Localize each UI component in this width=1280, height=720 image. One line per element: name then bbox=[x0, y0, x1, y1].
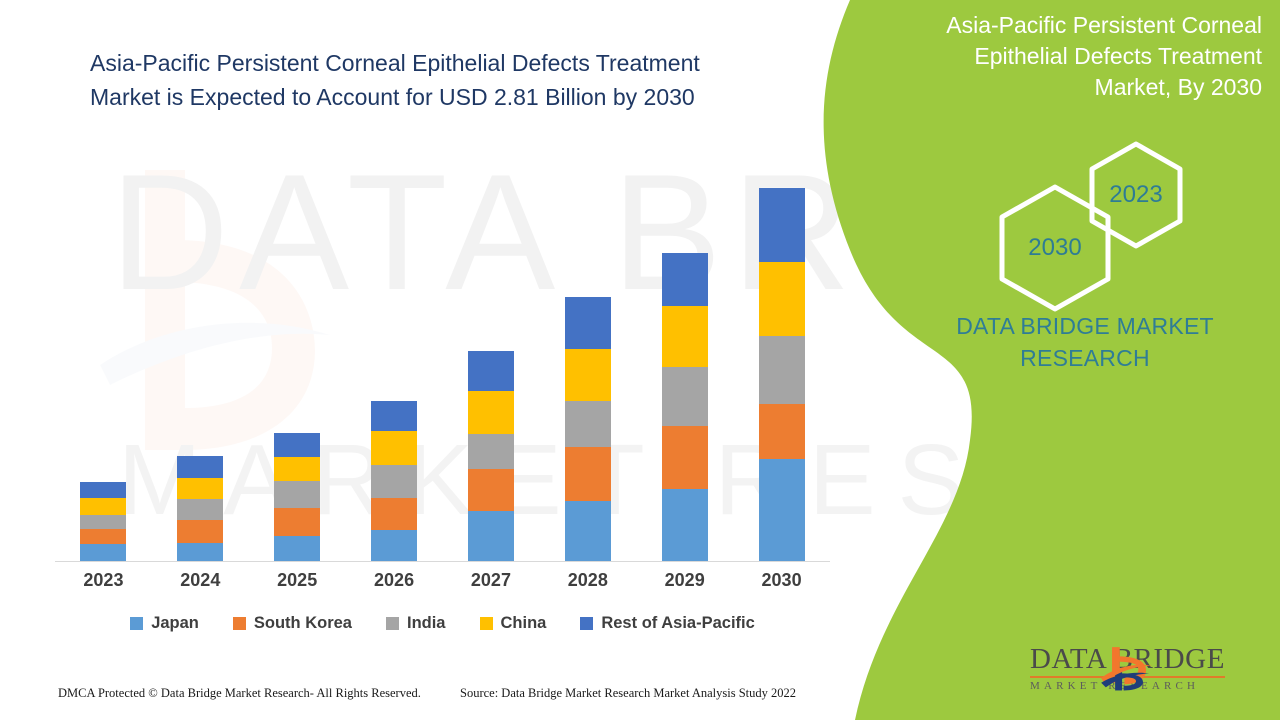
bar-segment bbox=[80, 515, 126, 529]
hexagon-2023-label: 2023 bbox=[1109, 181, 1162, 209]
legend-item[interactable]: Japan bbox=[130, 614, 199, 633]
bar-segment bbox=[80, 498, 126, 515]
bar-column bbox=[249, 150, 346, 561]
green-side-panel: Asia-Pacific Persistent Corneal Epitheli… bbox=[810, 0, 1280, 720]
stacked-bar bbox=[177, 456, 223, 561]
legend-swatch-icon bbox=[233, 617, 246, 630]
hexagon-2023: 2023 bbox=[1087, 140, 1185, 250]
footer: DMCA Protected © Data Bridge Market Rese… bbox=[0, 686, 845, 706]
x-axis-label: 2028 bbox=[539, 570, 636, 591]
bar-segment bbox=[371, 498, 417, 530]
chart-plot-area bbox=[55, 150, 830, 561]
page-title: Asia-Pacific Persistent Corneal Epitheli… bbox=[90, 46, 770, 114]
brand-name: DATA BRIDGE MARKET RESEARCH bbox=[920, 310, 1250, 374]
x-axis-line bbox=[55, 561, 830, 562]
bar-segment bbox=[468, 434, 514, 469]
bar-segment bbox=[274, 508, 320, 536]
bar-segment bbox=[565, 447, 611, 501]
bar-segment bbox=[371, 431, 417, 465]
bar-segment bbox=[177, 478, 223, 499]
bar-segment bbox=[371, 465, 417, 498]
hexagon-2030-label: 2030 bbox=[1028, 234, 1081, 262]
bar-segment bbox=[274, 536, 320, 561]
bar-column bbox=[443, 150, 540, 561]
x-axis-label: 2027 bbox=[443, 570, 540, 591]
bar-column bbox=[346, 150, 443, 561]
stacked-bar bbox=[80, 482, 126, 561]
bar-column bbox=[152, 150, 249, 561]
bar-column bbox=[636, 150, 733, 561]
bar-segment bbox=[759, 336, 805, 404]
bar-segment bbox=[468, 511, 514, 561]
legend-label: India bbox=[407, 614, 446, 633]
stacked-bar bbox=[468, 351, 514, 561]
x-axis-label: 2024 bbox=[152, 570, 249, 591]
x-axis-label: 2025 bbox=[249, 570, 346, 591]
bar-segment bbox=[662, 426, 708, 489]
bar-segment bbox=[565, 401, 611, 447]
bar-segment bbox=[662, 489, 708, 561]
bar-segment bbox=[177, 520, 223, 543]
footer-copyright: DMCA Protected © Data Bridge Market Rese… bbox=[58, 686, 421, 701]
bar-column bbox=[55, 150, 152, 561]
x-axis-tick-labels: 20232024202520262027202820292030 bbox=[55, 570, 830, 591]
bar-segment bbox=[565, 349, 611, 401]
bar-segment bbox=[274, 457, 320, 481]
bar-segment bbox=[468, 469, 514, 511]
bar-segment bbox=[468, 351, 514, 391]
bar-segment bbox=[565, 297, 611, 349]
data-bridge-logo: DATA BRIDGE MARKET RESEARCH bbox=[1030, 644, 1225, 692]
legend-swatch-icon bbox=[130, 617, 143, 630]
hexagon-group: 2030 2023 bbox=[955, 140, 1185, 290]
legend-label: China bbox=[501, 614, 547, 633]
stacked-bar bbox=[274, 433, 320, 561]
bar-segment bbox=[468, 391, 514, 434]
stacked-bar-chart bbox=[55, 150, 830, 562]
legend-swatch-icon bbox=[480, 617, 493, 630]
legend-item[interactable]: India bbox=[386, 614, 446, 633]
stacked-bar bbox=[662, 253, 708, 561]
bar-segment bbox=[759, 262, 805, 336]
bar-segment bbox=[662, 253, 708, 306]
footer-source: Source: Data Bridge Market Research Mark… bbox=[460, 686, 796, 701]
stacked-bar bbox=[759, 188, 805, 561]
legend-item[interactable]: China bbox=[480, 614, 547, 633]
panel-title: Asia-Pacific Persistent Corneal Epitheli… bbox=[902, 10, 1262, 103]
legend-item[interactable]: Rest of Asia-Pacific bbox=[580, 614, 754, 633]
bar-segment bbox=[759, 188, 805, 262]
bar-segment bbox=[371, 530, 417, 561]
bar-segment bbox=[759, 459, 805, 561]
legend-label: Japan bbox=[151, 614, 199, 633]
bar-segment bbox=[662, 306, 708, 367]
legend-label: Rest of Asia-Pacific bbox=[601, 614, 754, 633]
bar-segment bbox=[80, 529, 126, 544]
bar-segment bbox=[177, 543, 223, 561]
bar-segment bbox=[80, 544, 126, 561]
bar-segment bbox=[371, 401, 417, 431]
stacked-bar bbox=[371, 401, 417, 561]
x-axis-label: 2029 bbox=[636, 570, 733, 591]
legend-label: South Korea bbox=[254, 614, 352, 633]
bar-segment bbox=[274, 433, 320, 457]
legend-item[interactable]: South Korea bbox=[233, 614, 352, 633]
x-axis-label: 2026 bbox=[346, 570, 443, 591]
bar-segment bbox=[759, 404, 805, 459]
bar-segment bbox=[177, 499, 223, 520]
bar-segment bbox=[662, 367, 708, 426]
bar-segment bbox=[565, 501, 611, 561]
x-axis-label: 2023 bbox=[55, 570, 152, 591]
legend-swatch-icon bbox=[386, 617, 399, 630]
data-bridge-mark-icon bbox=[1030, 644, 1225, 692]
bar-segment bbox=[177, 456, 223, 478]
legend-swatch-icon bbox=[580, 617, 593, 630]
bar-segment bbox=[274, 481, 320, 508]
chart-legend: JapanSouth KoreaIndiaChinaRest of Asia-P… bbox=[55, 614, 830, 633]
bar-segment bbox=[80, 482, 126, 498]
bar-column bbox=[539, 150, 636, 561]
stacked-bar bbox=[565, 297, 611, 561]
